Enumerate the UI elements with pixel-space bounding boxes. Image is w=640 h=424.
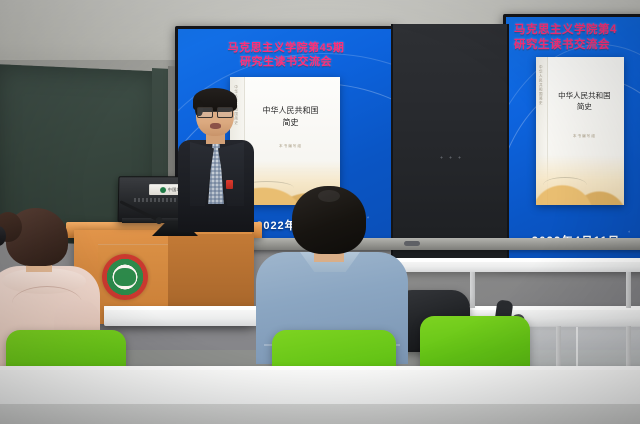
right-projection-screen[interactable]: 马克思主义学院第4 研究生读书交流会 中华人民共和国简史 中华人民共和国 简史 … bbox=[503, 14, 640, 264]
desk-edge bbox=[395, 258, 640, 262]
desk-edge bbox=[0, 366, 640, 370]
left-screen-title-line1: 马克思主义学院第45期 bbox=[178, 41, 394, 55]
book-title-line1: 中华人民共和国 bbox=[245, 105, 335, 117]
book-title: 中华人民共和国 简史 bbox=[548, 90, 620, 113]
book-title-line1: 中华人民共和国 bbox=[548, 90, 620, 101]
right-screen-title: 马克思主义学院第4 研究生读书交流会 bbox=[514, 23, 640, 52]
desk-leg bbox=[556, 326, 561, 370]
university-emblem-icon bbox=[102, 254, 148, 300]
left-screen-title: 马克思主义学院第45期 研究生读书交流会 bbox=[178, 41, 394, 69]
book-spine-text: 中华人民共和国简史 bbox=[539, 65, 544, 106]
presenter bbox=[176, 88, 256, 228]
white-classroom-desk-back bbox=[395, 258, 640, 272]
presenter-badge bbox=[226, 180, 233, 189]
desk-leg bbox=[470, 272, 475, 308]
desk-leg bbox=[626, 272, 631, 308]
student-hair bbox=[292, 186, 366, 254]
book-cover-wave-art bbox=[536, 155, 624, 205]
book-title-line2: 简史 bbox=[548, 101, 620, 112]
book-subtitle: 本书编写组 bbox=[245, 144, 335, 149]
floor bbox=[0, 404, 640, 424]
glasses-icon bbox=[197, 107, 233, 116]
display-bezel-divider bbox=[391, 24, 509, 258]
laptop-logo-mark-icon bbox=[160, 187, 166, 193]
book-title: 中华人民共和国 简史 bbox=[245, 105, 335, 129]
book-subtitle: 本书编写组 bbox=[548, 134, 620, 139]
classroom-scene-photo: 马克思主义学院第45期 研究生读书交流会 中华人民共和国简史 中华人民共和国 简… bbox=[0, 0, 640, 424]
right-screen-title-line2: 研究生读书交流会 bbox=[514, 38, 640, 53]
presenter-mouth bbox=[210, 123, 221, 129]
desk-leg bbox=[626, 326, 631, 370]
left-screen-title-line2: 研究生读书交流会 bbox=[178, 55, 394, 69]
book-title-line2: 简史 bbox=[245, 117, 335, 129]
right-screen-title-line1: 马克思主义学院第4 bbox=[514, 23, 640, 38]
right-slide-book-cover: 中华人民共和国简史 中华人民共和国 简史 本书编写组 bbox=[536, 57, 624, 205]
